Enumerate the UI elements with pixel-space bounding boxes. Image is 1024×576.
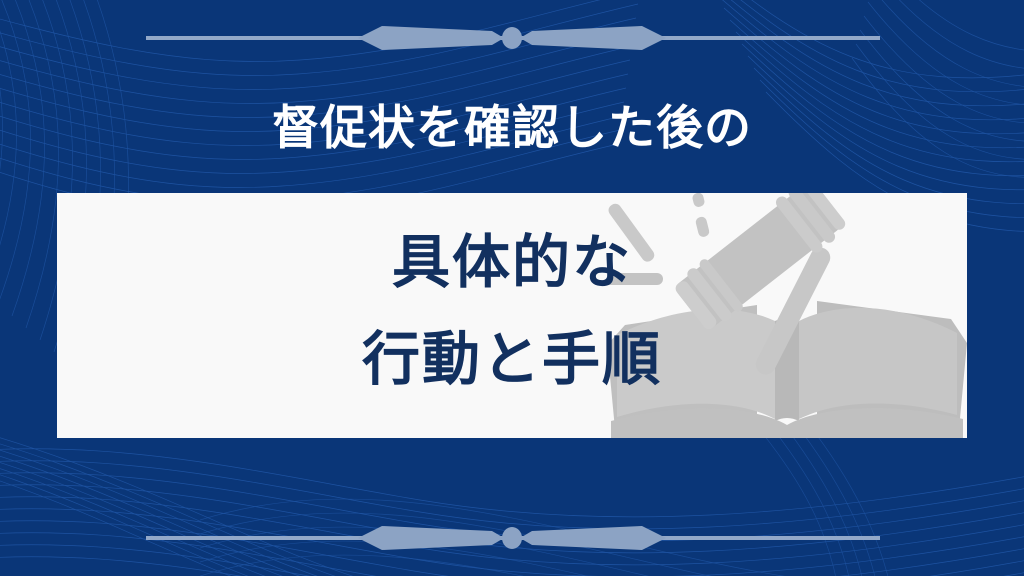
divider-top-arrow-left: [358, 26, 504, 50]
card-headline-line-2: 行動と手順: [57, 311, 967, 408]
card-headline-line-1: 具体的な: [57, 214, 967, 311]
divider-bottom-arrow-right: [520, 526, 666, 550]
slide-canvas: 督促状を確認した後の: [0, 0, 1024, 576]
divider-top: [0, 20, 1024, 56]
divider-bottom-center-dot: [502, 527, 522, 549]
divider-bottom-arrow-left: [358, 526, 504, 550]
card-headline: 具体的な 行動と手順: [57, 214, 967, 409]
divider-top-arrow-right: [520, 26, 666, 50]
content-card: 具体的な 行動と手順: [57, 193, 967, 438]
divider-bottom: [0, 520, 1024, 556]
divider-top-center-dot: [502, 27, 522, 49]
page-title: 督促状を確認した後の: [0, 101, 1024, 156]
